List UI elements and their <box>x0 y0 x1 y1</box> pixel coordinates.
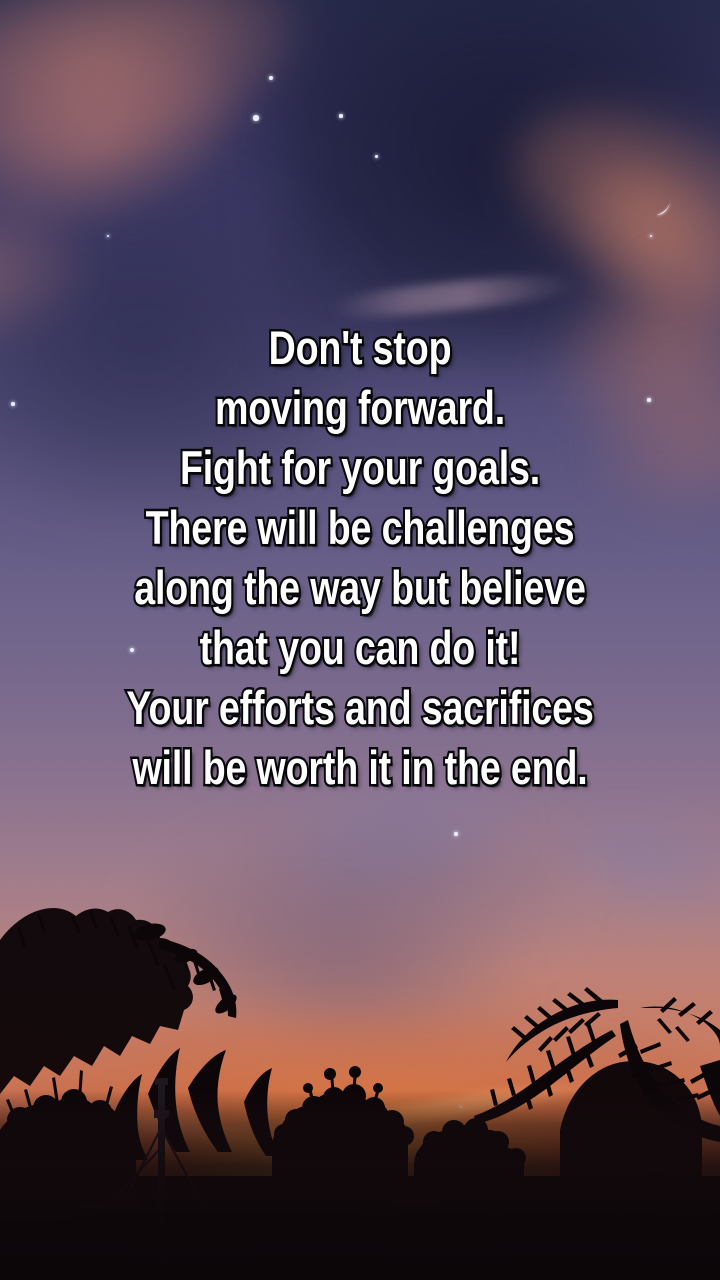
quote-line-7: Your efforts and sacrifices <box>72 678 648 738</box>
foreground-darkening-veil <box>0 1090 720 1280</box>
star-9 <box>454 832 457 835</box>
quote-line-1: Don't stop <box>72 318 648 378</box>
star-3 <box>339 114 342 117</box>
star-2 <box>253 115 258 120</box>
quote-line-6: that you can do it! <box>72 618 648 678</box>
wallpaper-canvas: Don't stop moving forward. Fight for you… <box>0 0 720 1280</box>
quote-line-4: There will be challenges <box>72 498 648 558</box>
quote-line-8: will be worth it in the end. <box>72 738 648 798</box>
quote-text-block: Don't stop moving forward. Fight for you… <box>0 318 720 798</box>
quote-line-2: moving forward. <box>72 378 648 438</box>
crescent-moon-icon <box>652 198 678 224</box>
star-4 <box>375 155 378 158</box>
quote-line-3: Fight for your goals. <box>72 438 648 498</box>
quote-line-5: along the way but believe <box>72 558 648 618</box>
